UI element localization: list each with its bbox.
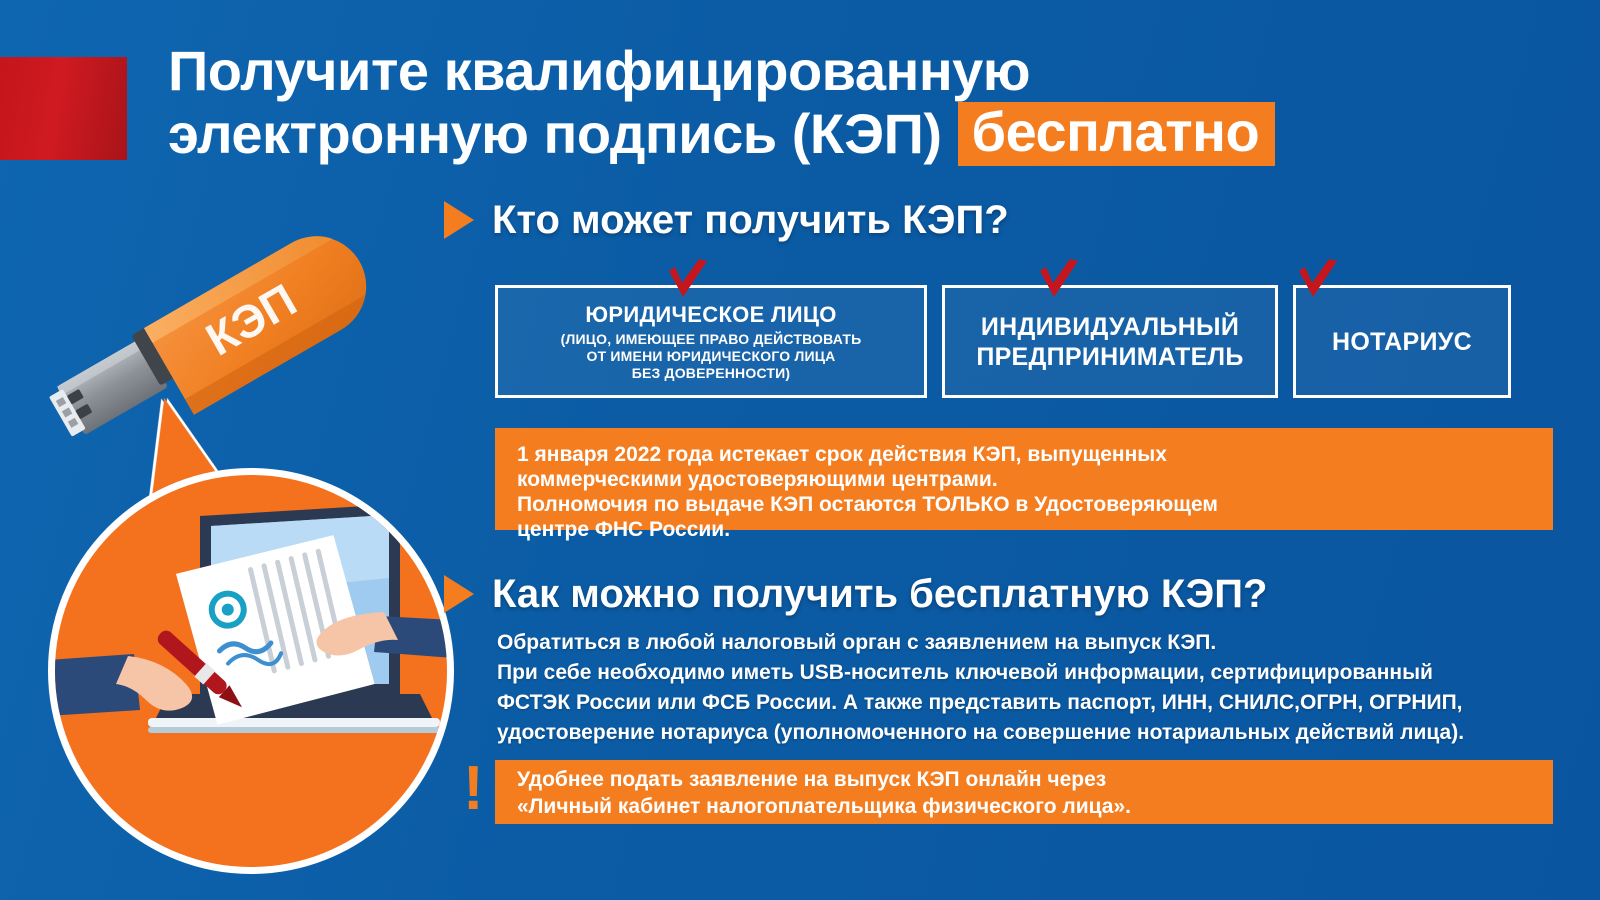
- triangle-right-icon: [444, 575, 474, 613]
- notice-expiry-box: 1 января 2022 года истекает срок действи…: [495, 428, 1553, 530]
- section-heading-how-text: Как можно получить бесплатную КЭП?: [492, 572, 1267, 616]
- title-line-2-text: электронную подпись (КЭП): [168, 103, 942, 165]
- triangle-right-icon: [444, 201, 474, 239]
- notice-expiry-line-2: коммерческими удостоверяющими центрами.: [517, 467, 1535, 492]
- category-title: ЮРИДИЧЕСКОЕ ЛИЦО: [585, 302, 836, 328]
- section-heading-who: Кто может получить КЭП?: [444, 198, 1009, 242]
- category-box-individual-entrepreneur[interactable]: ИНДИВИДУАЛЬНЫЙ ПРЕДПРИНИМАТЕЛЬ: [942, 285, 1278, 398]
- notice-expiry-line-4: центре ФНС России.: [517, 517, 1535, 542]
- category-box-legal-entity[interactable]: ЮРИДИЧЕСКОЕ ЛИЦО (ЛИЦО, ИМЕЮЩЕЕ ПРАВО ДЕ…: [495, 285, 927, 398]
- category-subtitle-line-3: БЕЗ ДОВЕРЕННОСТИ): [632, 365, 791, 381]
- category-title: НОТАРИУС: [1332, 327, 1472, 357]
- title-line-2: электронную подпись (КЭП) бесплатно: [168, 102, 1528, 166]
- category-box-notary[interactable]: НОТАРИУС: [1293, 285, 1511, 398]
- notice-expiry-line-3: Полномочия по выдаче КЭП остаются ТОЛЬКО…: [517, 492, 1535, 517]
- howto-line-3: ФСТЭК России или ФСБ России. А также пре…: [497, 688, 1557, 718]
- notice-online-box: Удобнее подать заявление на выпуск КЭП о…: [495, 760, 1553, 824]
- circle-scene: [48, 468, 454, 874]
- title-highlight-free: бесплатно: [958, 102, 1276, 166]
- notice-online-line-1: Удобнее подать заявление на выпуск КЭП о…: [517, 766, 1535, 793]
- howto-line-1: Обратиться в любой налоговый орган с зая…: [497, 628, 1557, 658]
- notice-expiry-line-1: 1 января 2022 года истекает срок действи…: [517, 442, 1535, 467]
- howto-line-4: удостоверение нотариуса (уполномоченного…: [497, 718, 1557, 748]
- poster-title: Получите квалифицированную электронную п…: [168, 40, 1528, 166]
- category-subtitle-line-2: ОТ ИМЕНИ ЮРИДИЧЕСКОГО ЛИЦА: [586, 348, 835, 364]
- section-heading-who-text: Кто может получить КЭП?: [492, 198, 1009, 242]
- category-subtitle-line-1: (ЛИЦО, ИМЕЮЩЕЕ ПРАВО ДЕЙСТВОВАТЬ: [561, 331, 862, 347]
- section-heading-how: Как можно получить бесплатную КЭП?: [444, 572, 1267, 616]
- category-subtitle: (ЛИЦО, ИМЕЮЩЕЕ ПРАВО ДЕЙСТВОВАТЬ ОТ ИМЕН…: [561, 331, 862, 382]
- howto-paragraph: Обратиться в любой налоговый орган с зая…: [497, 628, 1557, 748]
- infographic-poster: Получите квалифицированную электронную п…: [0, 0, 1600, 900]
- notice-online-line-2: «Личный кабинет налогоплательщика физиче…: [517, 793, 1535, 820]
- exclamation-icon: !: [463, 758, 484, 820]
- title-line-1: Получите квалифицированную: [168, 40, 1528, 102]
- category-title: ИНДИВИДУАЛЬНЫЙ ПРЕДПРИНИМАТЕЛЬ: [955, 312, 1265, 372]
- laptop-document-signing-icon: [48, 468, 454, 874]
- howto-line-2: При себе необходимо иметь USB-носитель к…: [497, 658, 1557, 688]
- red-accent-block: [0, 57, 127, 160]
